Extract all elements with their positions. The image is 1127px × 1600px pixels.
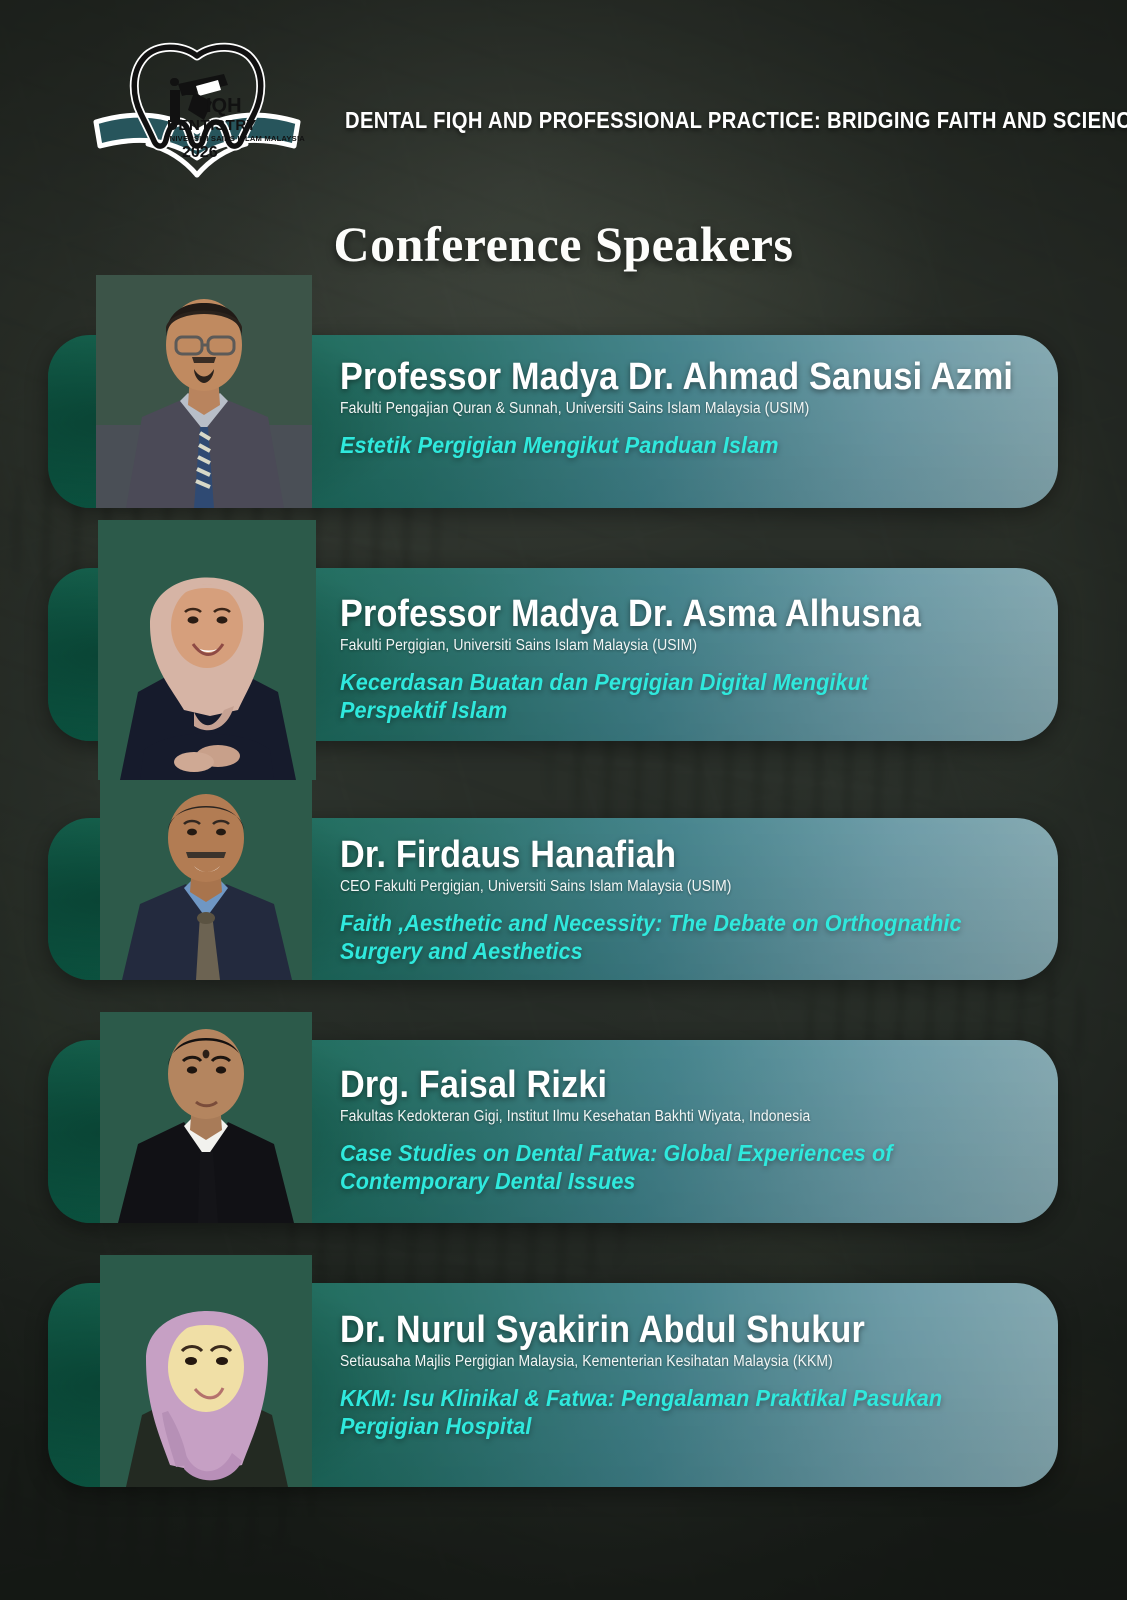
speaker-affiliation: Fakulti Pergigian, Universiti Sains Isla… [340,637,963,655]
speaker-photo-1 [96,275,312,508]
speaker-info-2: Professor Madya Dr. Asma Alhusna Fakulti… [340,594,1032,724]
speaker-info-3: Dr. Firdaus Hanafiah CEO Fakulti Pergigi… [340,835,1032,965]
speaker-photo-2 [98,520,316,780]
speaker-affiliation: Fakulti Pengajian Quran & Sunnah, Univer… [340,400,963,418]
speaker-list: Professor Madya Dr. Ahmad Sanusi Azmi Fa… [0,0,1127,1600]
speaker-card-3[interactable]: Dr. Firdaus Hanafiah CEO Fakulti Pergigi… [48,818,1058,980]
speaker-talk-title: Kecerdasan Buatan dan Pergigian Digital … [340,669,977,724]
speaker-talk-title: KKM: Isu Klinikal & Fatwa: Pengalaman Pr… [340,1385,977,1440]
speaker-affiliation: CEO Fakulti Pergigian, Universiti Sains … [340,878,963,896]
speaker-info-4: Drg. Faisal Rizki Fakultas Kedokteran Gi… [340,1065,1032,1195]
speaker-card-1[interactable]: Professor Madya Dr. Ahmad Sanusi Azmi Fa… [48,335,1058,508]
speaker-photo-3 [100,780,312,980]
speaker-card-5[interactable]: Dr. Nurul Syakirin Abdul Shukur Setiausa… [48,1283,1058,1487]
speaker-name: Drg. Faisal Rizki [340,1065,963,1105]
speaker-info-1: Professor Madya Dr. Ahmad Sanusi Azmi Fa… [340,357,1032,460]
speaker-name: Professor Madya Dr. Ahmad Sanusi Azmi [340,357,963,397]
speaker-name: Professor Madya Dr. Asma Alhusna [340,594,963,634]
speaker-name: Dr. Nurul Syakirin Abdul Shukur [340,1310,963,1350]
speaker-photo-4 [100,1012,312,1223]
speaker-affiliation: Fakultas Kedokteran Gigi, Institut Ilmu … [340,1108,963,1126]
speaker-card-4[interactable]: Drg. Faisal Rizki Fakultas Kedokteran Gi… [48,1040,1058,1223]
speaker-affiliation: Setiausaha Majlis Pergigian Malaysia, Ke… [340,1353,963,1371]
conference-speakers-poster: IQH DENTISTRY UNIVERSITI SAINS ISLAM MAL… [0,0,1127,1600]
speaker-info-5: Dr. Nurul Syakirin Abdul Shukur Setiausa… [340,1310,1032,1440]
speaker-talk-title: Estetik Pergigian Mengikut Panduan Islam [340,432,977,459]
speaker-card-2[interactable]: Professor Madya Dr. Asma Alhusna Fakulti… [48,568,1058,741]
speaker-talk-title: Case Studies on Dental Fatwa: Global Exp… [340,1140,977,1195]
speaker-name: Dr. Firdaus Hanafiah [340,835,963,875]
speaker-talk-title: Faith ,Aesthetic and Necessity: The Deba… [340,910,977,965]
speaker-photo-5 [100,1255,312,1487]
